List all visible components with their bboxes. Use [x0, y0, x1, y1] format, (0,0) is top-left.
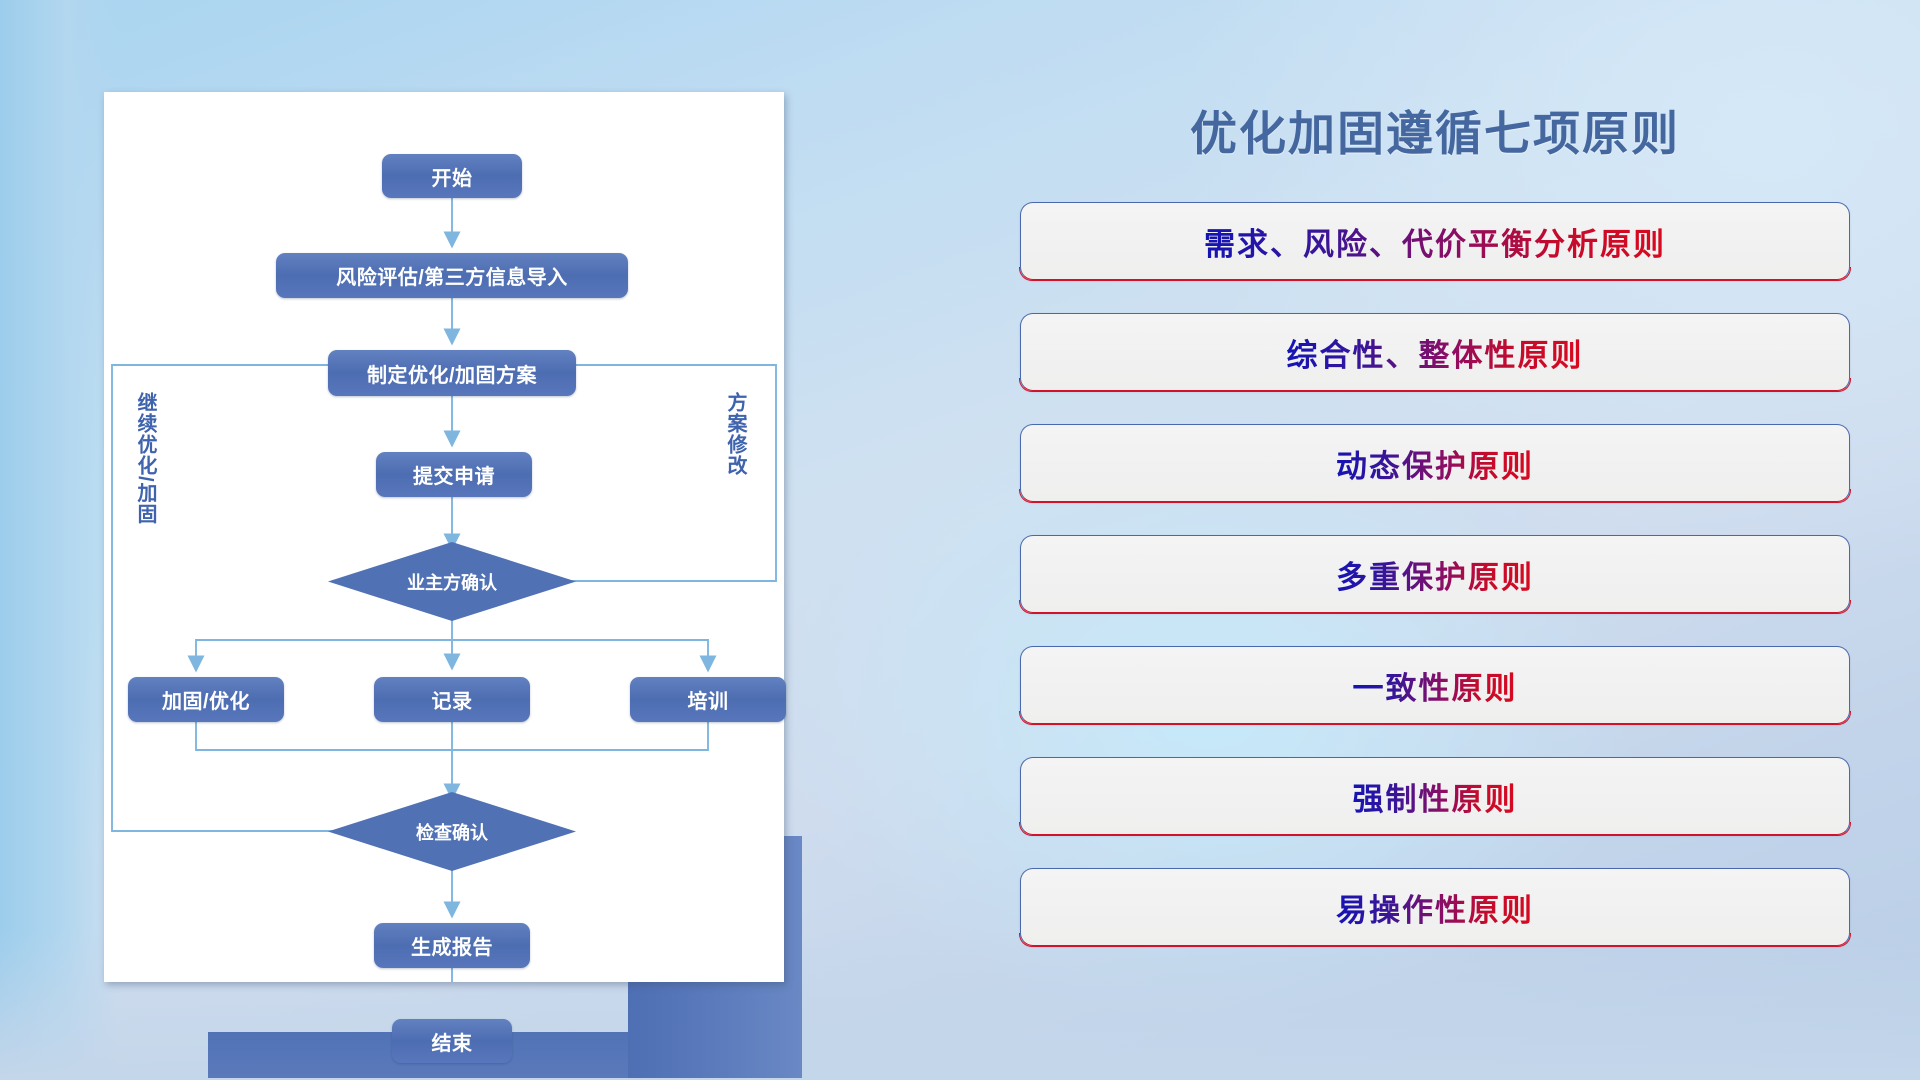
flow-node-reinforce[interactable]: 加固/优化: [128, 677, 284, 722]
principle-item[interactable]: 需求、风险、代价平衡分析原则: [1020, 202, 1850, 280]
flow-node-label: 开始: [432, 162, 473, 191]
flow-node-label: 生成报告: [411, 931, 493, 960]
principles-title: 优化加固遵循七项原则: [1020, 95, 1850, 164]
flow-node-label: 培训: [688, 685, 729, 714]
flow-node-label: 业主方确认: [407, 569, 497, 595]
flow-node-training[interactable]: 培训: [630, 677, 786, 722]
principle-label: 一致性原则: [1353, 663, 1518, 708]
principle-item[interactable]: 多重保护原则: [1020, 535, 1850, 613]
flow-node-start[interactable]: 开始: [382, 154, 522, 198]
principle-label: 综合性、整体性原则: [1287, 330, 1584, 375]
flow-node-submit-application[interactable]: 提交申请: [376, 452, 532, 497]
flow-node-label: 结束: [432, 1027, 473, 1056]
flow-node-label: 记录: [432, 685, 473, 714]
principle-item[interactable]: 易操作性原则: [1020, 868, 1850, 946]
background-left-tint: [0, 0, 120, 1080]
flow-node-generate-report[interactable]: 生成报告: [374, 923, 530, 968]
flowchart: 开始 风险评估/第三方信息导入 制定优化/加固方案 提交申请 业主方确认 加固/…: [104, 92, 784, 982]
principle-item[interactable]: 综合性、整体性原则: [1020, 313, 1850, 391]
flow-edge-label-continue-optimize: 继续优化/加固: [134, 392, 155, 525]
flow-node-end[interactable]: 结束: [392, 1019, 512, 1063]
principle-label: 需求、风险、代价平衡分析原则: [1204, 219, 1666, 264]
flow-node-plan[interactable]: 制定优化/加固方案: [328, 350, 576, 396]
principle-item[interactable]: 一致性原则: [1020, 646, 1850, 724]
principle-label: 多重保护原则: [1336, 552, 1534, 597]
flow-node-label: 加固/优化: [162, 685, 250, 714]
flow-node-record[interactable]: 记录: [374, 677, 530, 722]
flow-node-risk-assessment[interactable]: 风险评估/第三方信息导入: [276, 253, 628, 298]
flow-node-label: 提交申请: [413, 460, 495, 489]
principle-item[interactable]: 强制性原则: [1020, 757, 1850, 835]
flow-node-label: 风险评估/第三方信息导入: [336, 261, 568, 290]
flow-node-label: 检查确认: [416, 819, 488, 845]
flow-node-label: 制定优化/加固方案: [367, 359, 537, 388]
flow-edge-label-plan-revision: 方案修改: [724, 392, 745, 476]
principle-label: 易操作性原则: [1336, 885, 1534, 930]
flowchart-card: 开始 风险评估/第三方信息导入 制定优化/加固方案 提交申请 业主方确认 加固/…: [104, 92, 784, 982]
principle-label: 强制性原则: [1353, 774, 1518, 819]
flowchart-panel: 开始 风险评估/第三方信息导入 制定优化/加固方案 提交申请 业主方确认 加固/…: [104, 92, 784, 982]
principle-item[interactable]: 动态保护原则: [1020, 424, 1850, 502]
principles-panel: 优化加固遵循七项原则 需求、风险、代价平衡分析原则 综合性、整体性原则 动态保护…: [1020, 95, 1850, 1005]
principle-label: 动态保护原则: [1336, 441, 1534, 486]
